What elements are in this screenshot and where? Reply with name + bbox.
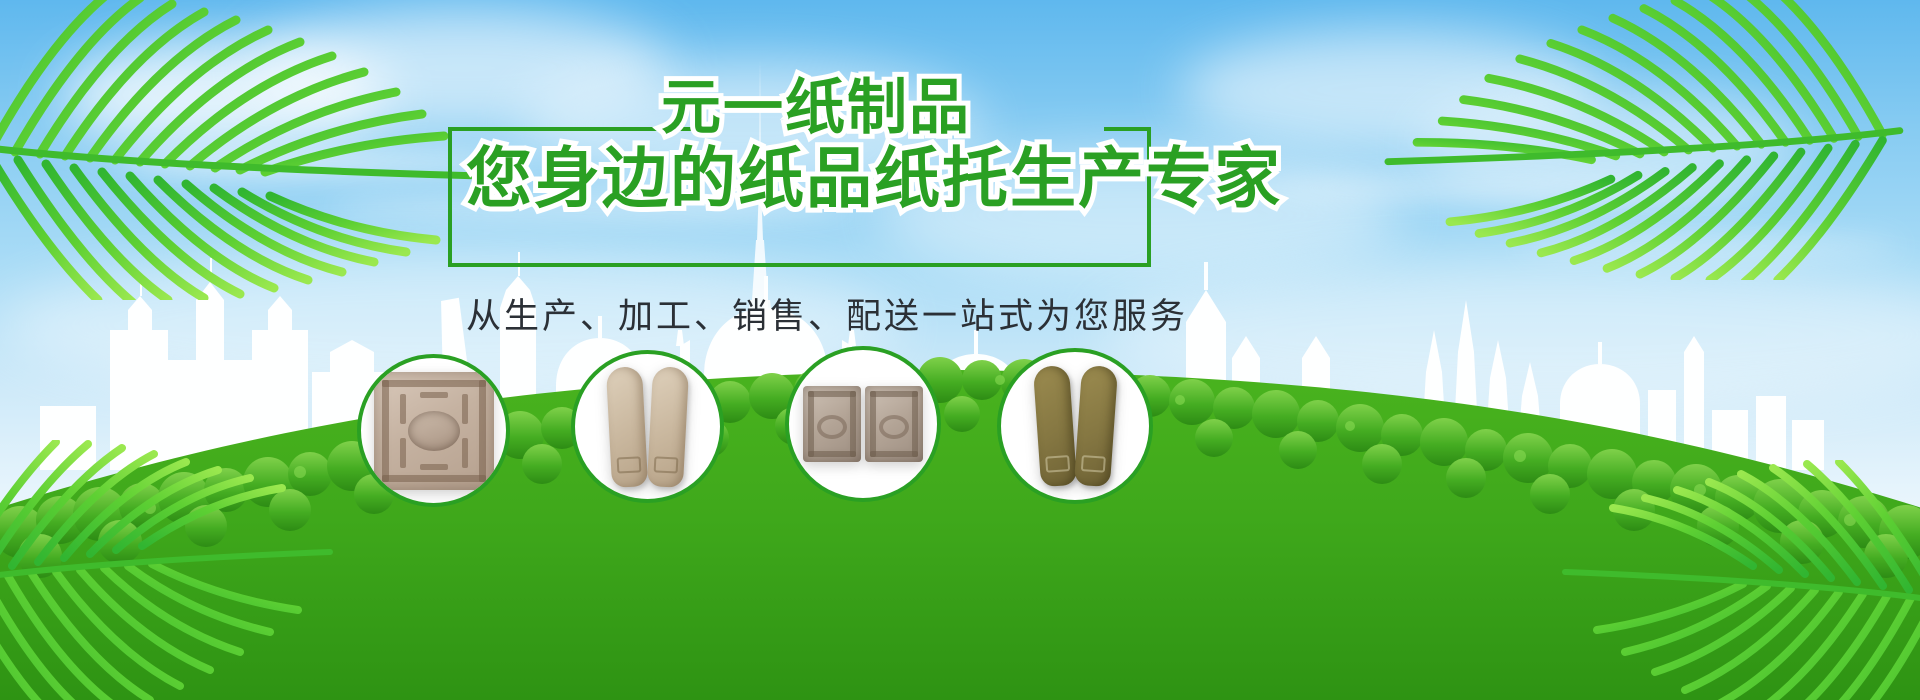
promo-banner: 元一纸制品 您身边的纸品纸托生产专家 从生产、加工、销售、配送一站式为您服务	[0, 0, 1920, 700]
square-pulp-tray-image	[374, 372, 494, 490]
pulp-corner-blocks-image	[803, 386, 923, 462]
pulp-insole-pair-image	[609, 367, 686, 487]
product-circle-dark-pulp-insoles[interactable]	[997, 348, 1153, 504]
product-circle-square-pulp-tray[interactable]	[357, 354, 510, 507]
product-circle-pulp-corner-blocks[interactable]	[785, 346, 941, 502]
product-circle-row	[0, 0, 1920, 700]
dark-pulp-insoles-image	[1037, 366, 1114, 486]
product-circle-pulp-insoles[interactable]	[571, 350, 724, 503]
